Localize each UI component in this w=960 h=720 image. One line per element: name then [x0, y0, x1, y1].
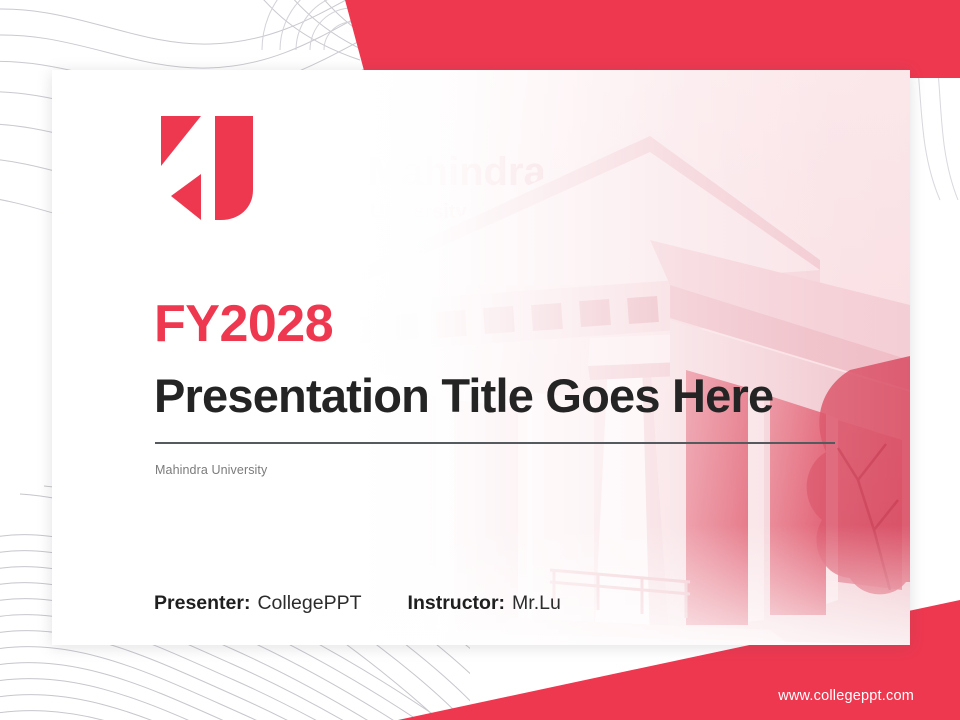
card-content: FY2028 Presentation Title Goes Here Mahi… [102, 70, 862, 645]
credits-row: Presenter: CollegePPT Instructor: Mr.Lu [154, 592, 561, 615]
instructor-label: Instructor: [408, 592, 506, 615]
page-title: Presentation Title Goes Here [154, 372, 773, 419]
presenter-value: CollegePPT [257, 592, 361, 615]
slide-card: Mahindra University [52, 70, 910, 645]
organization-subtitle: Mahindra University [155, 463, 267, 477]
presenter-label: Presenter: [154, 592, 250, 615]
title-divider [155, 442, 835, 444]
presentation-slide: Mahindra University [0, 0, 960, 720]
presenter-credit: Presenter: CollegePPT [154, 592, 362, 615]
fiscal-year-heading: FY2028 [154, 298, 333, 350]
footer-website-url: www.collegeppt.com [778, 688, 914, 704]
mahindra-university-logo-icon [157, 112, 261, 224]
instructor-credit: Instructor: Mr.Lu [408, 592, 561, 615]
instructor-value: Mr.Lu [512, 592, 561, 615]
